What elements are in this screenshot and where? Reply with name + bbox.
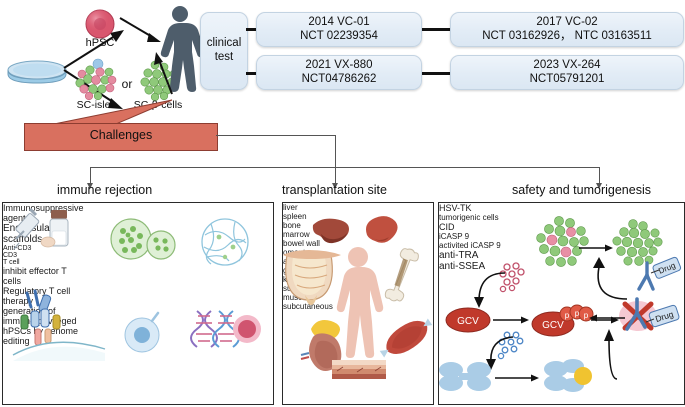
trial-3-line1: 2021 VX-880 bbox=[305, 59, 372, 73]
hpsc-cell-icon bbox=[83, 8, 117, 40]
arrow-icasp9-to-activated bbox=[495, 371, 541, 385]
connector-trial3-trial4 bbox=[419, 72, 451, 75]
arrow-activated-to-tumor bbox=[599, 327, 619, 381]
liver-icon bbox=[309, 217, 351, 245]
clinical-test-hub[interactable]: clinical test bbox=[200, 12, 248, 90]
trial-2-line2: NCT 03162926， NTC 03163511 bbox=[482, 30, 652, 44]
trial-box-2023-vx264[interactable]: 2023 VX-264 NCT05791201 bbox=[450, 55, 684, 90]
sc-islet-cluster-icon bbox=[70, 58, 122, 100]
panel-transplantation-site: liver spleen bone marrow bbox=[282, 202, 434, 405]
medicine-vial-icon bbox=[43, 209, 73, 251]
encapsulation-icon bbox=[110, 217, 176, 265]
trial-4-line2: NCT05791201 bbox=[530, 73, 605, 87]
label-t-cell: T cell bbox=[3, 259, 37, 266]
arrow-hsvtk-to-gcv bbox=[467, 269, 509, 311]
scaffolds-icon bbox=[199, 217, 251, 267]
arrow-gcv-to-pgcv bbox=[493, 313, 531, 327]
trial-box-2014-vc01[interactable]: 2014 VC-01 NCT 02239354 bbox=[256, 12, 422, 47]
phospho-gcv-icon: GCV p p p bbox=[531, 307, 591, 337]
tree-line-from-banner bbox=[216, 135, 336, 136]
subcutaneous-icon bbox=[331, 359, 387, 381]
trial-4-line1: 2023 VX-264 bbox=[533, 59, 600, 73]
label-tumorigenic-cells: tumorigenic cells bbox=[439, 213, 519, 222]
arrow-cluster-to-purified bbox=[579, 241, 615, 255]
activated-icasp9-icon bbox=[543, 359, 601, 393]
label-cid: CID bbox=[439, 222, 471, 232]
challenges-label: Challenges bbox=[25, 128, 217, 142]
tcell-receptor-icon bbox=[13, 289, 109, 361]
clinical-test-line2: test bbox=[215, 51, 234, 65]
panel-safety-tumorigenesis: HSV-TK GCV GCV p p p bbox=[438, 202, 685, 405]
bowel-omentum-icon bbox=[281, 249, 343, 305]
svg-text:p: p bbox=[565, 311, 570, 320]
or-label: or bbox=[122, 78, 133, 91]
panel-title-safety: safety and tumorigenesis bbox=[512, 183, 651, 197]
gcv-molecule-icon: GCV bbox=[445, 307, 491, 333]
label-liver: liver bbox=[283, 203, 319, 212]
panel-title-immune: immune rejection bbox=[57, 183, 152, 197]
trial-2-line1: 2017 VC-02 bbox=[536, 16, 597, 30]
spleen-icon bbox=[361, 215, 399, 243]
trial-box-2017-vc02[interactable]: 2017 VC-02 NCT 03162926， NTC 03163511 bbox=[450, 12, 684, 47]
clinical-test-line1: clinical bbox=[207, 37, 242, 51]
caption-inhibit-effector-t-cells: inhibit effector T cells bbox=[3, 266, 105, 286]
challenges-banner[interactable]: Challenges bbox=[24, 123, 218, 151]
icasp9-icon bbox=[439, 361, 495, 391]
bone-marrow-icon bbox=[387, 247, 417, 303]
trial-1-line1: 2014 VC-01 bbox=[308, 16, 369, 30]
panel-immune-rejection: Immunosuppressive agents Encapsulation bbox=[2, 202, 274, 405]
antibody-drug-lower-icon: Drug bbox=[619, 295, 683, 341]
label-activated-icasp9: activited iCASP 9 bbox=[439, 241, 529, 250]
label-cd3: CD3 bbox=[3, 252, 25, 259]
svg-text:GCV: GCV bbox=[542, 320, 564, 331]
arrow-hpsc-to-body bbox=[118, 14, 166, 48]
connector-trial1-trial2 bbox=[419, 28, 451, 31]
hpsc-label: hPSC bbox=[86, 38, 115, 50]
trial-1-line2: NCT 02239354 bbox=[300, 30, 378, 44]
regulatory-t-cell-icon bbox=[121, 311, 165, 355]
challenges-ribbon-tail bbox=[54, 100, 174, 125]
tree-line-horizontal bbox=[90, 167, 600, 168]
muscle-icon bbox=[377, 313, 435, 363]
trial-box-2021-vx880[interactable]: 2021 VX-880 NCT04786262 bbox=[256, 55, 422, 90]
trial-3-line2: NCT04786262 bbox=[302, 73, 377, 87]
arrow-antibody-to-tumor bbox=[587, 311, 627, 325]
connector-hub-trial3 bbox=[246, 72, 256, 75]
label-hsv-tk: HSV-TK bbox=[439, 203, 489, 213]
label-icasp9: iCASP 9 bbox=[439, 232, 487, 241]
connector-hub-trial1 bbox=[246, 28, 256, 31]
arrow-cells-to-body bbox=[152, 48, 178, 96]
culture-dish-icon bbox=[6, 56, 68, 86]
panel-title-site: transplantation site bbox=[282, 183, 387, 197]
svg-text:p: p bbox=[575, 309, 580, 318]
svg-text:GCV: GCV bbox=[457, 316, 479, 327]
tree-line-drop-center bbox=[335, 135, 336, 168]
genome-editing-icon bbox=[189, 309, 261, 349]
syringe-icon bbox=[13, 207, 41, 251]
